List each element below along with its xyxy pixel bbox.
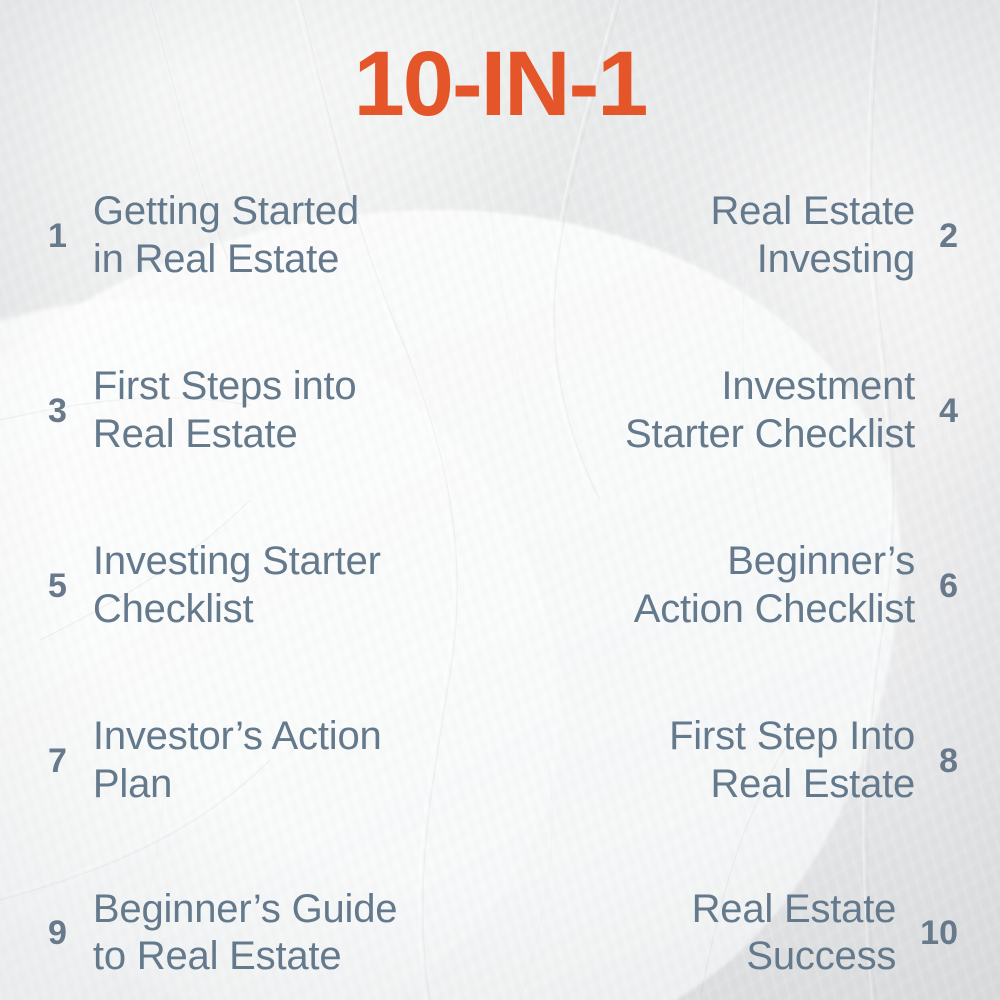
- item-number: 4: [939, 394, 958, 428]
- list-row: 3 First Steps into Real Estate Investmen…: [0, 323, 1000, 498]
- item-label-text: Real Estate Success: [692, 886, 897, 980]
- item-label-text: Beginner’s Guide to Real Estate: [93, 886, 397, 980]
- item-number: 8: [939, 744, 958, 778]
- item-label-text: Real Estate Investing: [711, 188, 916, 282]
- list-row: 7 Investor’s Action Plan First Step Into…: [0, 673, 1000, 848]
- list-row: 1 Getting Started in Real Estate Real Es…: [0, 148, 1000, 323]
- item-label-text: First Step Into Real Estate: [669, 713, 915, 807]
- item-label-text: Beginner’s Action Checklist: [634, 538, 915, 632]
- list-item-9[interactable]: 9 Beginner’s Guide to Real Estate: [0, 886, 500, 980]
- list-item-1[interactable]: 1 Getting Started in Real Estate: [0, 188, 500, 282]
- list-item-4[interactable]: Investment Starter Checklist 4: [500, 363, 1000, 457]
- item-number: 1: [48, 219, 67, 253]
- list-item-10[interactable]: Real Estate Success 10: [500, 886, 1000, 980]
- item-number: 9: [48, 916, 67, 950]
- item-number: 3: [48, 394, 67, 428]
- list-item-2[interactable]: Real Estate Investing 2: [500, 188, 1000, 282]
- item-number: 10: [920, 916, 958, 950]
- list-row: 9 Beginner’s Guide to Real Estate Real E…: [0, 848, 1000, 1000]
- bundle-list: 1 Getting Started in Real Estate Real Es…: [0, 148, 1000, 1000]
- item-number: 2: [939, 219, 958, 253]
- list-row: 5 Investing Starter Checklist Beginner’s…: [0, 498, 1000, 673]
- item-label-text: Getting Started in Real Estate: [93, 188, 359, 282]
- item-label-text: Investor’s Action Plan: [93, 713, 382, 807]
- list-item-7[interactable]: 7 Investor’s Action Plan: [0, 713, 500, 807]
- list-item-5[interactable]: 5 Investing Starter Checklist: [0, 538, 500, 632]
- item-number: 5: [48, 569, 67, 603]
- list-item-6[interactable]: Beginner’s Action Checklist 6: [500, 538, 1000, 632]
- page-title: 10-IN-1: [0, 38, 1000, 130]
- list-item-8[interactable]: First Step Into Real Estate 8: [500, 713, 1000, 807]
- item-label-text: First Steps into Real Estate: [93, 363, 357, 457]
- poster-canvas: 10-IN-1 1 Getting Started in Real Estate…: [0, 0, 1000, 1000]
- item-number: 7: [48, 744, 67, 778]
- item-number: 6: [939, 569, 958, 603]
- poster-content: 10-IN-1 1 Getting Started in Real Estate…: [0, 0, 1000, 1000]
- item-label-text: Investing Starter Checklist: [93, 538, 381, 632]
- item-label-text: Investment Starter Checklist: [625, 363, 915, 457]
- list-item-3[interactable]: 3 First Steps into Real Estate: [0, 363, 500, 457]
